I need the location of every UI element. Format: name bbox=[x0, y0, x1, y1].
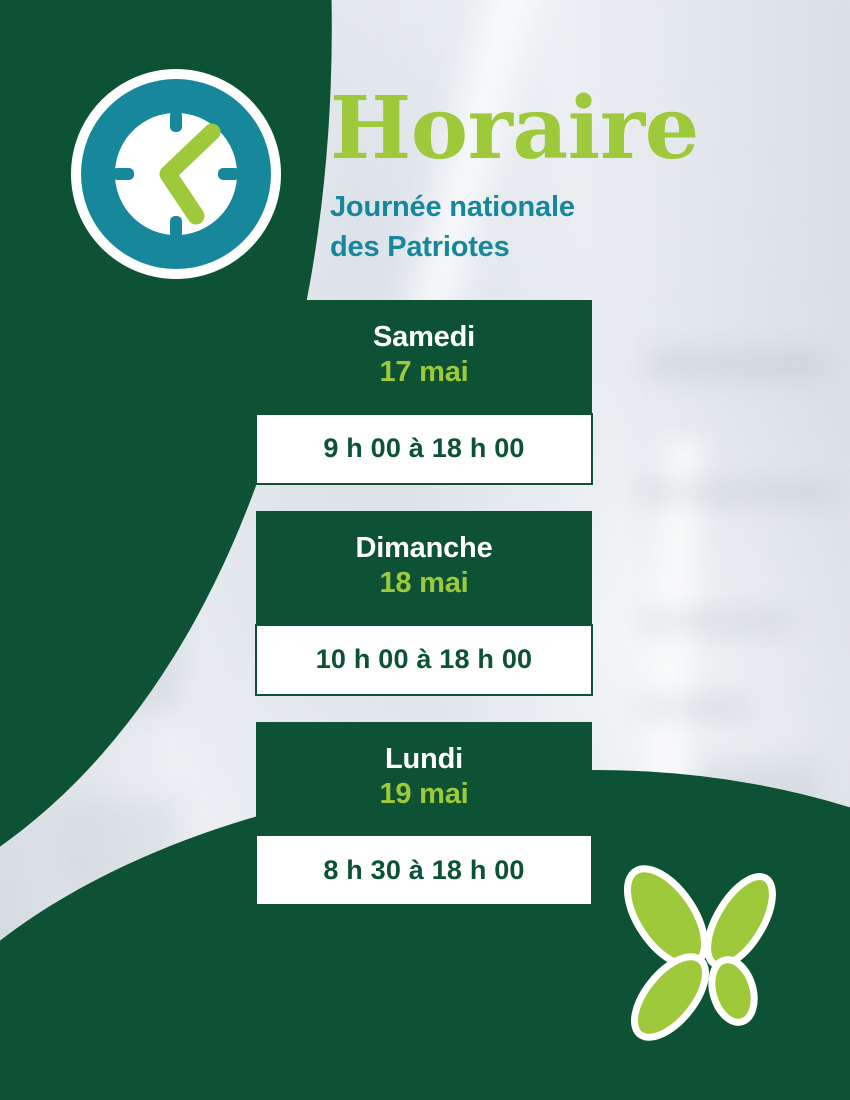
schedule-hours-label: 10 h 00 à 18 h 00 bbox=[255, 624, 593, 696]
background-smudge bbox=[638, 488, 834, 497]
schedule-poster: Horaire Journée nationale des Patriotes … bbox=[0, 0, 850, 1100]
schedule-day-label: Lundi bbox=[266, 742, 582, 777]
subtitle-line-2: des Patriotes bbox=[330, 227, 750, 268]
schedule-card: Dimanche 18 mai 10 h 00 à 18 h 00 bbox=[256, 511, 592, 696]
background-smudge bbox=[648, 352, 824, 378]
schedule-day-label: Samedi bbox=[266, 320, 582, 355]
clock-icon bbox=[66, 64, 286, 284]
schedule-card-header: Samedi 17 mai bbox=[256, 300, 592, 413]
page-title: Horaire bbox=[330, 88, 750, 171]
background-smudge bbox=[640, 616, 790, 628]
schedule-card: Samedi 17 mai 9 h 00 à 18 h 00 bbox=[256, 300, 592, 485]
butterfly-logo-icon bbox=[615, 855, 790, 1045]
schedule-hours-label: 9 h 00 à 18 h 00 bbox=[255, 413, 593, 485]
background-smudge bbox=[640, 700, 750, 716]
schedule-hours-label: 8 h 30 à 18 h 00 bbox=[255, 834, 593, 906]
schedule-date-label: 18 mai bbox=[266, 566, 582, 601]
schedule-card: Lundi 19 mai 8 h 30 à 18 h 00 bbox=[256, 722, 592, 907]
schedule-card-header: Dimanche 18 mai bbox=[256, 511, 592, 624]
schedule-date-label: 17 mai bbox=[266, 355, 582, 390]
title-block: Horaire Journée nationale des Patriotes bbox=[330, 88, 750, 268]
schedule-card-header: Lundi 19 mai bbox=[256, 722, 592, 835]
schedule-list: Samedi 17 mai 9 h 00 à 18 h 00 Dimanche … bbox=[256, 300, 592, 932]
schedule-date-label: 19 mai bbox=[266, 777, 582, 812]
subtitle-line-1: Journée nationale bbox=[330, 187, 750, 228]
page-subtitle: Journée nationale des Patriotes bbox=[330, 187, 750, 268]
schedule-day-label: Dimanche bbox=[266, 531, 582, 566]
